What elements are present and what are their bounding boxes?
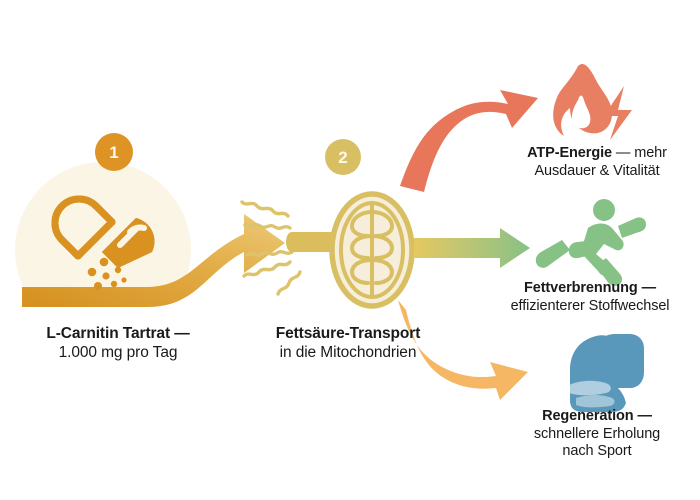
benefit-label-fatburn: Fettverbrennung — effizienterer Stoffwec… bbox=[480, 280, 700, 315]
step1-backdrop-disc bbox=[15, 162, 191, 338]
step-1-label-regular: 1.000 mg pro Tag bbox=[0, 344, 236, 363]
benefit-arrow-fatburn bbox=[414, 228, 530, 268]
mitochondrion-icon bbox=[332, 194, 412, 306]
step-1-label-bold: L-Carnitin Tartrat — bbox=[0, 325, 236, 344]
benefit-atp-line1: ATP-Energie — mehr bbox=[494, 145, 700, 163]
benefit-label-regeneration: Regeneration — schnellere Erholung nach … bbox=[494, 408, 700, 461]
flexed-biceps-icon bbox=[569, 334, 644, 412]
step-badge-1: 1 bbox=[95, 133, 133, 171]
benefit-atp-rest: — mehr bbox=[612, 145, 667, 161]
benefit-fatburn-bold: Fettverbrennung — bbox=[480, 280, 700, 298]
benefit-atp-line2: Ausdauer & Vitalität bbox=[494, 163, 700, 181]
step-2-label-bold: Fettsäure-Transport bbox=[250, 325, 446, 344]
infographic-canvas: 1 2 L-Carnitin Tartrat — 1.000 mg pro Ta… bbox=[0, 0, 700, 500]
benefit-regeneration-line2: schnellere Erholung bbox=[494, 426, 700, 444]
benefit-regeneration-bold: Regeneration — bbox=[494, 408, 700, 426]
benefit-regeneration-line3: nach Sport bbox=[494, 443, 700, 461]
step-badge-2-number: 2 bbox=[338, 149, 347, 166]
running-person-icon bbox=[536, 199, 646, 286]
benefit-atp-bold: ATP-Energie bbox=[527, 145, 612, 161]
step-badge-1-number: 1 bbox=[109, 144, 118, 161]
step-2-label-regular: in die Mitochondrien bbox=[250, 344, 446, 363]
step-badge-2: 2 bbox=[325, 139, 361, 175]
flame-lightning-icon bbox=[553, 64, 632, 140]
benefit-fatburn-line2: effizienterer Stoffwechsel bbox=[480, 298, 700, 316]
step-1-label: L-Carnitin Tartrat — 1.000 mg pro Tag bbox=[0, 325, 236, 363]
benefit-label-atp: ATP-Energie — mehr Ausdauer & Vitalität bbox=[494, 145, 700, 180]
step-2-label: Fettsäure-Transport in die Mitochondrien bbox=[250, 325, 446, 363]
